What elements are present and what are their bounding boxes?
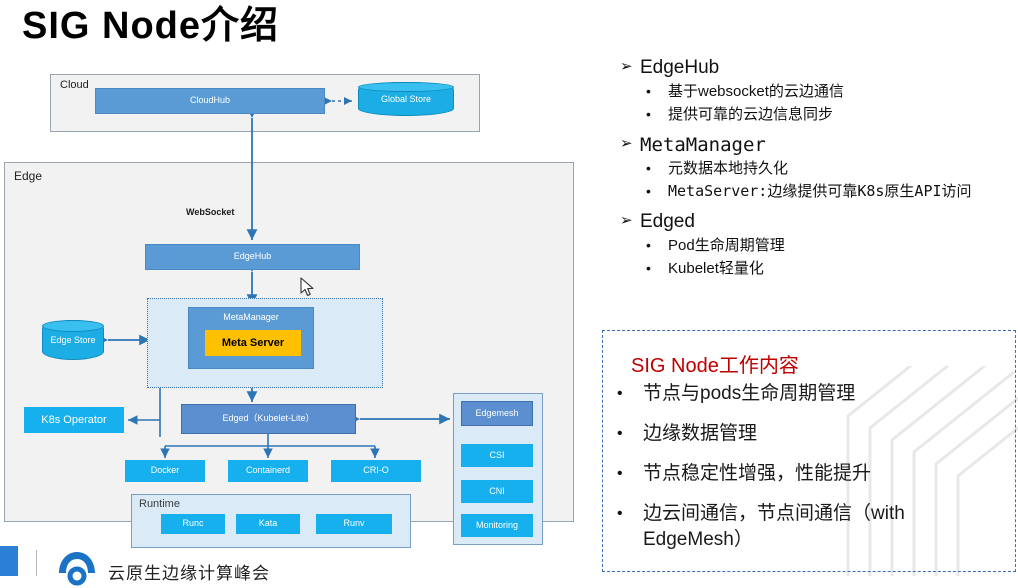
node-monitoring[interactable]: Monitoring — [461, 514, 533, 537]
node-edgehub[interactable]: EdgeHub — [145, 244, 360, 270]
feature-item: • 元数据本地持久化 — [646, 157, 1018, 180]
node-containerd-label: Containerd — [246, 466, 290, 476]
dot-bullet-icon: • — [617, 461, 643, 487]
feature-item: • 基于websocket的云边通信 — [646, 80, 1018, 103]
node-global-store-label: Global Store — [381, 94, 431, 104]
cylinder-top — [42, 320, 104, 332]
list-item: • 节点稳定性增强，性能提升 — [617, 461, 1009, 487]
node-docker[interactable]: Docker — [125, 460, 205, 482]
mouse-cursor-icon — [300, 277, 316, 299]
node-metamanager-label: MetaManager — [223, 313, 279, 323]
node-edgemesh-label: Edgemesh — [475, 409, 518, 419]
dot-bullet-icon: • — [617, 421, 643, 447]
dot-bullet-icon: • — [617, 381, 643, 407]
cloud-region-label: Cloud — [60, 79, 89, 91]
feature-group-edgehub: ➢ EdgeHub • 基于websocket的云边通信 • 提供可靠的云边信息… — [612, 56, 1018, 126]
list-item-label: 边云间通信，节点间通信（with EdgeMesh） — [643, 501, 1009, 553]
dot-bullet-icon: • — [646, 180, 668, 202]
feature-group-edged: ➢ Edged • Pod生命周期管理 • Kubelet轻量化 — [612, 210, 1018, 280]
feature-list: ➢ EdgeHub • 基于websocket的云边通信 • 提供可靠的云边信息… — [612, 54, 1018, 287]
right-panel: ➢ EdgeHub • 基于websocket的云边通信 • 提供可靠的云边信息… — [600, 0, 1018, 576]
feature-item-label: Pod生命周期管理 — [668, 234, 785, 257]
dot-bullet-icon: • — [646, 157, 668, 179]
page-title: SIG Node介绍 — [22, 0, 279, 49]
footer-divider — [36, 550, 37, 576]
node-runc[interactable]: Runc — [161, 514, 225, 534]
node-k8s-operator-label: K8s Operator — [41, 414, 106, 426]
node-metamanager[interactable]: MetaManager Meta Server — [188, 307, 314, 369]
node-cni[interactable]: CNI — [461, 480, 533, 503]
feature-item-label: Kubelet轻量化 — [668, 257, 764, 280]
feature-item: • Pod生命周期管理 — [646, 234, 1018, 257]
node-k8s-operator[interactable]: K8s Operator — [24, 407, 124, 433]
node-edgehub-label: EdgeHub — [234, 252, 272, 262]
feature-heading-metamanager: ➢ MetaManager — [612, 133, 1018, 157]
feature-group-metamanager: ➢ MetaManager • 元数据本地持久化 • MetaServer:边缘… — [612, 133, 1018, 203]
feature-item-label: 提供可靠的云边信息同步 — [668, 103, 833, 126]
feature-item: • MetaServer:边缘提供可靠K8s原生API访问 — [646, 180, 1018, 203]
node-kata[interactable]: Kata — [236, 514, 300, 534]
feature-item: • Kubelet轻量化 — [646, 257, 1018, 280]
list-item-label: 节点稳定性增强，性能提升 — [643, 461, 871, 487]
slide-canvas: SIG Node介绍 Cloud Edge — [0, 0, 1018, 576]
list-item: • 边云间通信，节点间通信（with EdgeMesh） — [617, 501, 1009, 553]
arrow-bullet-icon: ➢ — [612, 56, 640, 78]
dot-bullet-icon: • — [617, 501, 643, 527]
node-cni-label: CNI — [489, 487, 505, 497]
dot-bullet-icon: • — [646, 234, 668, 256]
arrow-bullet-icon: ➢ — [612, 133, 640, 155]
arrow-bullet-icon: ➢ — [612, 210, 640, 232]
highlight-box: SIG Node工作内容 • 节点与pods生命周期管理 • 边缘数据管理 • … — [602, 330, 1016, 572]
feature-heading-label: MetaManager — [640, 133, 766, 157]
dot-bullet-icon: • — [646, 257, 668, 279]
feature-item-label: 基于websocket的云边通信 — [668, 80, 844, 103]
node-containerd[interactable]: Containerd — [228, 460, 308, 482]
feature-heading-label: Edged — [640, 210, 695, 234]
dot-bullet-icon: • — [646, 103, 668, 125]
node-csi[interactable]: CSI — [461, 444, 533, 467]
feature-item: • 提供可靠的云边信息同步 — [646, 103, 1018, 126]
node-meta-server[interactable]: Meta Server — [205, 330, 301, 356]
list-item: • 节点与pods生命周期管理 — [617, 381, 1009, 407]
edge-region-label: Edge — [14, 169, 42, 183]
node-meta-server-label: Meta Server — [222, 337, 284, 349]
slide-footer: 云原生边缘计算峰会 — [0, 540, 600, 576]
feature-item-label: 元数据本地持久化 — [668, 157, 788, 180]
node-runc-label: Runc — [182, 519, 203, 529]
event-logo-icon — [56, 546, 98, 588]
dot-bullet-icon: • — [646, 80, 668, 102]
event-name-label: 云原生边缘计算峰会 — [108, 559, 270, 584]
highlight-box-title: SIG Node工作内容 — [631, 349, 799, 378]
node-runv-label: Runv — [343, 519, 364, 529]
node-monitoring-label: Monitoring — [476, 521, 518, 531]
feature-heading-edgehub: ➢ EdgeHub — [612, 56, 1018, 80]
node-crio-label: CRI-O — [363, 466, 389, 476]
node-cloudhub-label: CloudHub — [190, 96, 230, 106]
node-edgemesh[interactable]: Edgemesh — [461, 401, 533, 426]
node-edge-store[interactable]: Edge Store — [42, 320, 104, 360]
node-kata-label: Kata — [259, 519, 278, 529]
node-cloudhub[interactable]: CloudHub — [95, 88, 325, 114]
node-runv[interactable]: Runv — [316, 514, 392, 534]
node-global-store[interactable]: Global Store — [358, 82, 454, 116]
runtime-group-label: Runtime — [139, 498, 180, 510]
architecture-diagram: Cloud Edge — [0, 62, 580, 532]
list-item-label: 边缘数据管理 — [643, 421, 757, 447]
node-edge-store-label: Edge Store — [50, 335, 95, 345]
highlight-box-list: • 节点与pods生命周期管理 • 边缘数据管理 • 节点稳定性增强，性能提升 … — [617, 381, 1009, 567]
list-item: • 边缘数据管理 — [617, 421, 1009, 447]
node-crio[interactable]: CRI-O — [331, 460, 421, 482]
feature-heading-label: EdgeHub — [640, 56, 719, 80]
feature-item-label: MetaServer:边缘提供可靠K8s原生API访问 — [668, 180, 972, 203]
list-item-label: 节点与pods生命周期管理 — [643, 381, 855, 407]
node-edged-label: Edged（Kubelet-Lite） — [222, 414, 314, 424]
websocket-link-label: WebSocket — [186, 207, 234, 217]
node-csi-label: CSI — [489, 451, 504, 461]
node-docker-label: Docker — [151, 466, 180, 476]
node-edged[interactable]: Edged（Kubelet-Lite） — [181, 404, 356, 434]
footer-accent-bar — [0, 546, 18, 576]
feature-heading-edged: ➢ Edged — [612, 210, 1018, 234]
